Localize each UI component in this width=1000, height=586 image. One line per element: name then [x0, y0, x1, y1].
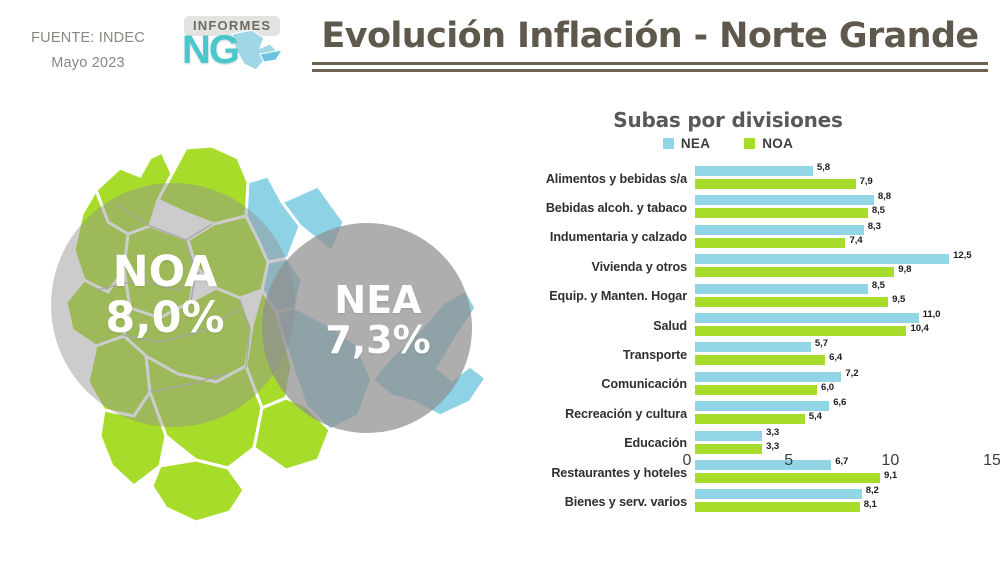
bar-value-noa: 6,0	[821, 382, 834, 393]
logo-ng-text: NG	[182, 30, 238, 70]
bar-nea	[695, 431, 762, 441]
infographic-page: FUENTE: INDEC Mayo 2023 INFORMES NG Evol…	[0, 0, 1000, 586]
chart-row: Bienes y serv. varios8,28,1	[508, 487, 1000, 516]
category-label: Comunicación	[508, 377, 695, 391]
map-svg	[0, 130, 520, 570]
bar-value-nea: 12,5	[953, 250, 971, 261]
chart-x-axis: 051015	[687, 452, 1000, 482]
chart-row: Salud11,010,4	[508, 311, 1000, 340]
bar-group: 8,88,5	[695, 193, 1000, 222]
bar-noa	[695, 414, 805, 424]
bar-nea	[695, 342, 811, 352]
nea-bubble	[262, 223, 472, 433]
category-label: Educación	[508, 436, 695, 450]
category-label: Vivienda y otros	[508, 260, 695, 274]
bar-group: 5,87,9	[695, 164, 1000, 193]
bar-group: 7,26,0	[695, 370, 1000, 399]
noa-bubble	[51, 183, 295, 427]
bar-value-nea: 7,2	[845, 368, 858, 379]
x-axis-tick: 10	[881, 452, 899, 470]
legend-swatch-noa-icon	[744, 138, 755, 149]
chart-row: Vivienda y otros12,59,8	[508, 252, 1000, 281]
bar-value-nea: 8,8	[878, 191, 891, 202]
x-axis-tick: 5	[784, 452, 793, 470]
legend-label-nea: NEA	[681, 136, 710, 151]
bar-noa	[695, 238, 845, 248]
bar-group: 8,28,1	[695, 487, 1000, 516]
bar-group: 11,010,4	[695, 311, 1000, 340]
category-label: Alimentos y bebidas s/a	[508, 172, 695, 186]
bar-group: 5,76,4	[695, 340, 1000, 369]
region-map: NOA 8,0% NEA 7,3%	[0, 130, 520, 570]
page-title: Evolución Inflación - Norte Grande	[312, 16, 988, 56]
category-label: Bebidas alcoh. y tabaco	[508, 201, 695, 215]
bar-value-noa: 7,9	[860, 176, 873, 187]
bar-nea	[695, 225, 864, 235]
bar-value-noa: 7,4	[849, 235, 862, 246]
title-rule-top	[312, 62, 988, 65]
bar-noa	[695, 267, 894, 277]
bar-value-nea: 6,6	[833, 397, 846, 408]
bar-noa	[695, 297, 888, 307]
category-label: Recreación y cultura	[508, 407, 695, 421]
bar-noa	[695, 502, 860, 512]
category-label: Indumentaria y calzado	[508, 230, 695, 244]
bar-value-nea: 8,5	[872, 280, 885, 291]
category-label: Restaurantes y hoteles	[508, 466, 695, 480]
bar-nea	[695, 372, 841, 382]
legend-item-noa: NOA	[744, 136, 793, 151]
bar-noa	[695, 208, 868, 218]
bar-nea	[695, 489, 862, 499]
chart-title: Subas por divisiones	[508, 108, 948, 132]
category-label: Equip. y Manten. Hogar	[508, 289, 695, 303]
bar-noa	[695, 385, 817, 395]
bar-value-noa: 8,5	[872, 205, 885, 216]
legend-item-nea: NEA	[663, 136, 710, 151]
informes-ng-logo: INFORMES NG	[168, 10, 286, 82]
bar-value-nea: 5,7	[815, 338, 828, 349]
bar-nea	[695, 166, 813, 176]
bar-value-noa: 10,4	[910, 323, 928, 334]
bar-nea	[695, 313, 919, 323]
bar-group: 6,65,4	[695, 399, 1000, 428]
chart-row: Alimentos y bebidas s/a5,87,9	[508, 164, 1000, 193]
bar-value-nea: 8,3	[868, 221, 881, 232]
title-block: Evolución Inflación - Norte Grande	[312, 16, 988, 72]
bar-group: 12,59,8	[695, 252, 1000, 281]
bar-noa	[695, 179, 856, 189]
bar-value-noa: 5,4	[809, 411, 822, 422]
bar-value-noa: 6,4	[829, 352, 842, 363]
bar-group: 8,37,4	[695, 223, 1000, 252]
bar-nea	[695, 401, 829, 411]
category-label: Transporte	[508, 348, 695, 362]
bar-value-noa: 3,3	[766, 441, 779, 452]
category-label: Bienes y serv. varios	[508, 495, 695, 509]
chart-row: Comunicación7,26,0	[508, 370, 1000, 399]
chart-row: Recreación y cultura6,65,4	[508, 399, 1000, 428]
title-rule-bottom	[312, 69, 988, 72]
bar-value-noa: 9,8	[898, 264, 911, 275]
bar-nea	[695, 284, 868, 294]
legend-label-noa: NOA	[762, 136, 793, 151]
bar-value-nea: 8,2	[866, 485, 879, 496]
category-label: Salud	[508, 319, 695, 333]
bar-nea	[695, 195, 874, 205]
bar-value-noa: 9,5	[892, 294, 905, 305]
bar-nea	[695, 254, 949, 264]
source-block: FUENTE: INDEC Mayo 2023	[18, 26, 158, 77]
bar-noa	[695, 355, 825, 365]
legend-swatch-nea-icon	[663, 138, 674, 149]
chart-row: Indumentaria y calzado8,37,4	[508, 223, 1000, 252]
bar-group: 8,59,5	[695, 282, 1000, 311]
source-line-1: FUENTE: INDEC	[18, 26, 158, 51]
bar-value-nea: 5,8	[817, 162, 830, 173]
x-axis-tick: 15	[983, 452, 1000, 470]
source-line-2: Mayo 2023	[18, 51, 158, 76]
bar-noa	[695, 326, 906, 336]
chart-legend: NEA NOA	[508, 136, 948, 151]
chart-row: Bebidas alcoh. y tabaco8,88,5	[508, 193, 1000, 222]
bar-value-nea: 3,3	[766, 427, 779, 438]
chart-row: Transporte5,76,4	[508, 340, 1000, 369]
bar-value-noa: 8,1	[864, 499, 877, 510]
x-axis-tick: 0	[683, 452, 692, 470]
chart-row: Equip. y Manten. Hogar8,59,5	[508, 282, 1000, 311]
bar-value-nea: 11,0	[923, 309, 941, 320]
bar-chart: Subas por divisiones NEA NOA Alimentos y…	[508, 100, 1000, 550]
